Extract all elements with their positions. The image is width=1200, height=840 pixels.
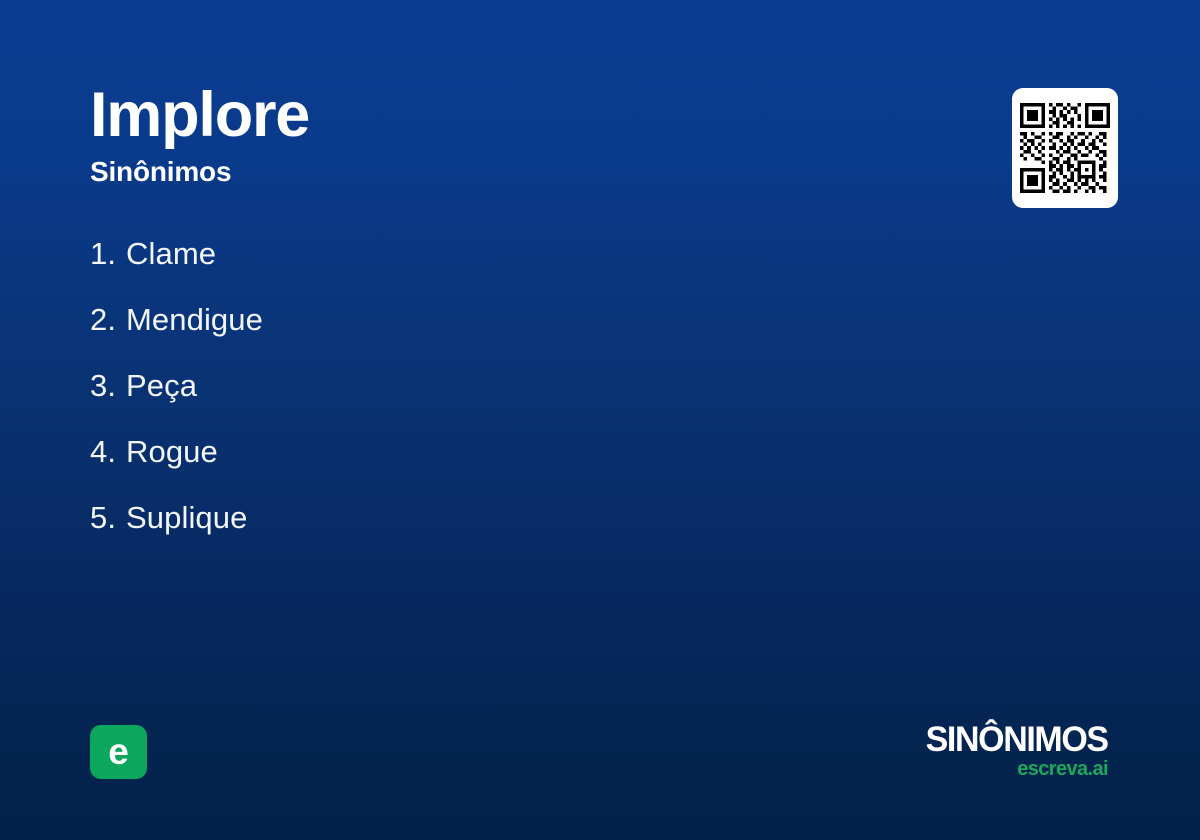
list-item-index: 3.	[90, 368, 126, 404]
list-item: 3. Peça	[90, 368, 263, 434]
page-title: Implore	[90, 84, 309, 147]
brand-badge[interactable]: e	[90, 725, 147, 779]
list-item-term: Rogue	[126, 434, 218, 470]
brand-badge-letter: e	[108, 733, 129, 770]
list-item: 1. Clame	[90, 236, 263, 302]
synonym-list: 1. Clame 2. Mendigue 3. Peça 4. Rogue 5.…	[90, 236, 263, 566]
qr-code[interactable]	[1012, 88, 1118, 208]
list-item: 2. Mendigue	[90, 302, 263, 368]
list-item-index: 2.	[90, 302, 126, 338]
list-item-term: Clame	[126, 236, 216, 272]
list-item-term: Peça	[126, 368, 197, 404]
list-item: 4. Rogue	[90, 434, 263, 500]
wordmark-secondary-text: escreva.ai	[920, 759, 1108, 779]
qr-code-icon	[1020, 97, 1110, 199]
synonym-card: Implore Sinônimos	[0, 0, 1200, 840]
list-item-term: Suplique	[126, 500, 247, 536]
wordmark-primary-text: SINÔNIMOS	[926, 722, 1108, 757]
list-item: 5. Suplique	[90, 500, 263, 566]
list-item-term: Mendigue	[126, 302, 263, 338]
list-item-index: 4.	[90, 434, 126, 470]
list-item-index: 1.	[90, 236, 126, 272]
brand-wordmark: SINÔNIMOS escreva.ai	[920, 722, 1108, 779]
list-item-index: 5.	[90, 500, 126, 536]
page-subtitle: Sinônimos	[90, 157, 309, 188]
heading-block: Implore Sinônimos	[90, 84, 309, 188]
